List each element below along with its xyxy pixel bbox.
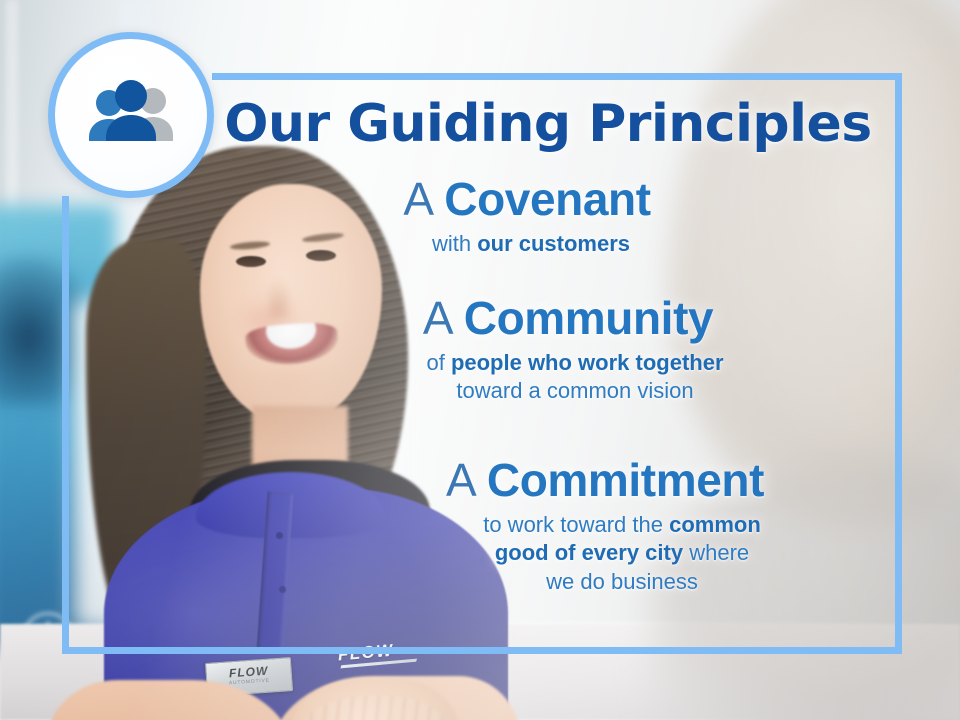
principle-article: A bbox=[423, 292, 451, 344]
people-group-icon bbox=[82, 79, 180, 151]
principle-keyword: Commitment bbox=[487, 454, 764, 506]
principle-span-bold: common bbox=[669, 512, 761, 537]
page-title: Our Guiding Principles bbox=[212, 98, 884, 150]
principle-description: to work toward the common good of every … bbox=[212, 511, 902, 597]
guiding-principles-poster: FLOW AUTOMOTIVE FLOW bbox=[0, 0, 960, 720]
principle-line: to work toward the common bbox=[342, 511, 902, 540]
people-badge bbox=[48, 32, 214, 198]
principle-span: with bbox=[432, 231, 477, 256]
principle-line: we do business bbox=[342, 568, 902, 597]
principle-span-bold: people who work together bbox=[451, 350, 724, 375]
principle-community: A Community of people who work together … bbox=[212, 295, 902, 406]
poster-content: Our Guiding Principles A Covenant with o… bbox=[212, 73, 902, 654]
principle-article: A bbox=[446, 454, 474, 506]
principle-span-bold: our customers bbox=[477, 231, 630, 256]
principle-line: with our customers bbox=[212, 230, 850, 259]
principle-covenant: A Covenant with our customers bbox=[212, 176, 902, 258]
principle-heading: A Community bbox=[212, 295, 902, 343]
principle-heading: A Commitment bbox=[212, 457, 902, 505]
principle-keyword: Covenant bbox=[444, 173, 650, 225]
principle-span: to work toward the bbox=[483, 512, 669, 537]
principle-line: good of every city where bbox=[342, 539, 902, 568]
principle-line: of people who work together bbox=[248, 349, 902, 378]
principle-span: we do business bbox=[546, 569, 698, 594]
principle-span: toward a common vision bbox=[456, 378, 693, 403]
principle-line: toward a common vision bbox=[248, 377, 902, 406]
principle-description: of people who work together toward a com… bbox=[212, 349, 902, 406]
principle-heading: A Covenant bbox=[212, 176, 902, 224]
principle-keyword: Community bbox=[464, 292, 713, 344]
principle-description: with our customers bbox=[212, 230, 902, 259]
principle-article: A bbox=[403, 173, 431, 225]
principle-span-bold: good of every city bbox=[495, 540, 683, 565]
principle-span: of bbox=[426, 350, 450, 375]
principle-span: where bbox=[683, 540, 749, 565]
principle-commitment: A Commitment to work toward the common g… bbox=[212, 457, 902, 597]
